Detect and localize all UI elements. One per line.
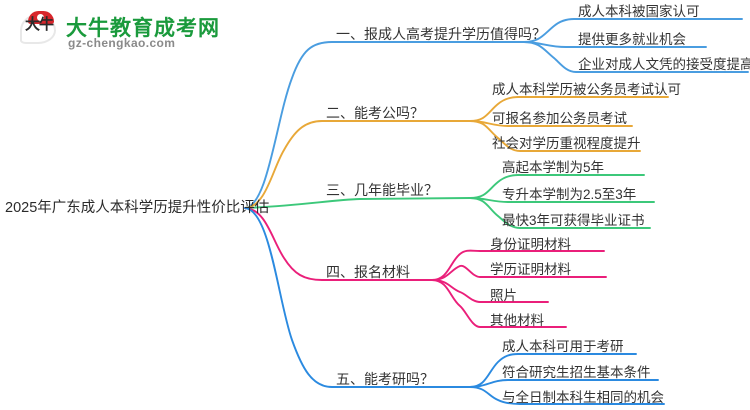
leaf-5-1[interactable]: 成人本科可用于考研 [502,340,624,354]
leaf-5-3[interactable]: 与全日制本科生相同的机会 [502,391,664,405]
branch-label-2[interactable]: 二、能考公吗？ [326,106,424,120]
leaf-2-1[interactable]: 成人本科学历被公务员考试认可 [492,83,681,97]
leaf-1-2[interactable]: 提供更多就业机会 [578,33,686,47]
leaf-4-1[interactable]: 身份证明材料 [490,238,571,252]
mindmap-root-label[interactable]: 2025年广东成人本科学历提升性价比评估 [5,201,269,216]
leaf-5-2[interactable]: 符合研究生招生基本条件 [502,366,651,380]
leaf-2-2[interactable]: 可报名参加公务员考试 [492,112,627,126]
leaf-4-3[interactable]: 照片 [490,289,517,303]
leaf-2-3[interactable]: 社会对学历重视程度提升 [492,137,641,151]
mindmap-canvas: 大牛 大牛教育成考网 gz-chengkao.com [0,0,750,410]
leaf-3-1[interactable]: 高起本学制为5年 [502,161,604,175]
leaf-1-1[interactable]: 成人本科被国家认可 [578,5,700,19]
leaf-3-3[interactable]: 最快3年可获得毕业证书 [502,214,645,228]
leaf-1-3[interactable]: 企业对成人文凭的接受度提高 [578,58,750,72]
branch-label-5[interactable]: 五、能考研吗？ [336,372,434,386]
leaf-4-2[interactable]: 学历证明材料 [490,263,571,277]
branch-label-3[interactable]: 三、几年能毕业？ [326,183,438,197]
leaf-3-2[interactable]: 专升本学制为2.5至3年 [502,188,636,202]
branch-label-1[interactable]: 一、报成人高考提升学历值得吗？ [336,27,546,41]
branch-label-4[interactable]: 四、报名材料 [326,265,410,279]
leaf-4-4[interactable]: 其他材料 [490,314,544,328]
